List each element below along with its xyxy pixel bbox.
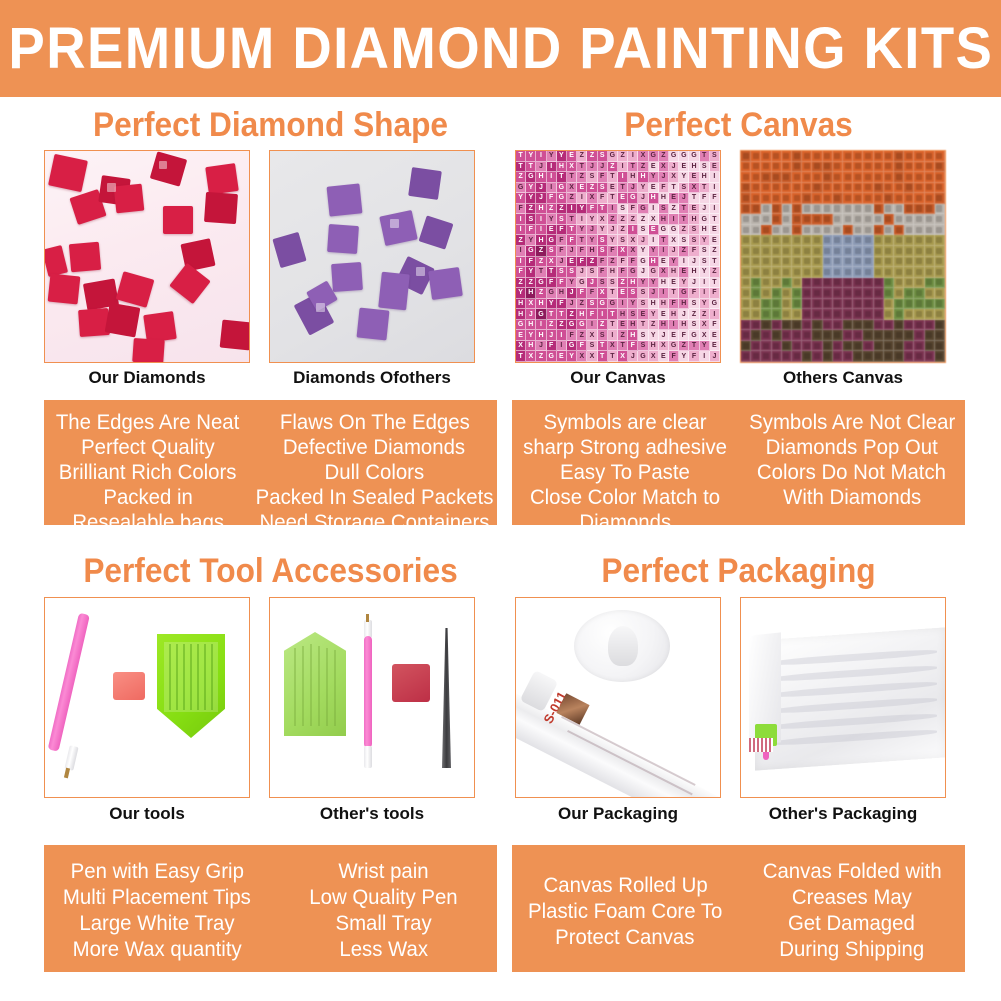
caption-other-canvas: Others Canvas <box>740 369 946 386</box>
info-line: Flaws On The Edges <box>279 410 469 435</box>
info-line: Plastic Foam Core To <box>528 899 722 925</box>
info-box-packaging: Canvas Rolled Up Plastic Foam Core To Pr… <box>512 845 965 972</box>
info-col-ours-packaging: Canvas Rolled Up Plastic Foam Core To Pr… <box>512 845 739 972</box>
info-line: Multi Placement Tips <box>63 885 251 911</box>
info-line: Diamonds Pop Out <box>766 435 938 460</box>
section-title-diamond-shape: Perfect Diamond Shape <box>60 108 481 142</box>
wax-square <box>113 672 145 700</box>
info-line: Large White Tray <box>80 911 235 937</box>
photo-other-diamonds <box>269 150 475 363</box>
info-line: Get Damaged <box>788 911 915 937</box>
caption-our-packaging: Our Packaging <box>515 805 721 822</box>
thin-pink-pen <box>364 636 372 748</box>
caption-our-canvas: Our Canvas <box>515 369 721 386</box>
info-line: Resealable bags <box>72 510 224 535</box>
red-wax-square <box>392 664 430 702</box>
info-line: Colors Do Not Match <box>757 460 946 485</box>
info-line: During Shipping <box>779 937 924 963</box>
caption-other-tools: Other's tools <box>269 805 475 822</box>
info-line: Symbols Are Not Clear <box>749 410 955 435</box>
info-line: Canvas Rolled Up <box>543 873 707 899</box>
tweezers <box>442 628 451 768</box>
info-line: Need Storage Containers <box>259 510 489 535</box>
info-line: Packed In Sealed Packets <box>256 485 494 510</box>
info-line: Defective Diamonds <box>283 435 465 460</box>
info-box-tool-accessories: Pen with Easy Grip Multi Placement Tips … <box>44 845 497 972</box>
info-line: Protect Canvas <box>556 925 695 951</box>
caption-other-packaging: Other's Packaging <box>740 805 946 822</box>
info-line: Pen with Easy Grip <box>71 859 244 885</box>
info-box-canvas: Symbols are clear sharp Strong adhesive … <box>512 400 965 525</box>
info-col-theirs-packaging: Canvas Folded with Creases May Get Damag… <box>739 845 966 972</box>
photo-other-packaging <box>740 597 946 798</box>
info-line: Dull Colors <box>325 460 425 485</box>
info-col-ours-canvas: Symbols are clear sharp Strong adhesive … <box>512 400 739 525</box>
photo-our-packaging: S-011 <box>515 597 721 798</box>
info-line: Canvas Folded with <box>762 859 941 885</box>
info-line: The Edges Are Neat <box>56 410 239 435</box>
info-line: Easy To Paste <box>560 460 690 485</box>
info-col-theirs-canvas: Symbols Are Not Clear Diamonds Pop Out C… <box>739 400 966 525</box>
info-line: Wrist pain <box>339 859 429 885</box>
pink-pen <box>48 613 90 752</box>
info-line: Small Tray <box>336 911 432 937</box>
info-col-theirs-diamond-shape: Flaws On The Edges Defective Diamonds Du… <box>252 400 497 525</box>
other-canvas-symbol-grid <box>741 151 945 362</box>
photo-our-tools <box>44 597 250 798</box>
comparison-infographic: PREMIUM DIAMOND PAINTING KITS Perfect Di… <box>0 0 1001 1001</box>
photo-other-canvas <box>740 150 946 363</box>
page-title: PREMIUM DIAMOND PAINTING KITS <box>8 20 993 78</box>
info-line: With Diamonds <box>783 485 921 510</box>
caption-our-tools: Our tools <box>44 805 250 822</box>
info-line: Less Wax <box>339 937 428 963</box>
section-title-tool-accessories: Perfect Tool Accessories <box>60 554 481 588</box>
info-line: Packed in <box>103 485 192 510</box>
info-line: Brilliant Rich Colors <box>59 460 237 485</box>
info-line: sharp Strong adhesive <box>523 435 727 460</box>
info-line: Perfect Quality <box>81 435 215 460</box>
info-line: Close Color Match to <box>530 485 720 510</box>
section-title-packaging: Perfect Packaging <box>528 554 949 588</box>
header-banner: PREMIUM DIAMOND PAINTING KITS <box>0 0 1001 97</box>
caption-our-diamonds: Our Diamonds <box>44 369 250 386</box>
info-col-ours-diamond-shape: The Edges Are Neat Perfect Quality Brill… <box>44 400 252 525</box>
info-col-theirs-tools: Wrist pain Low Quality Pen Small Tray Le… <box>271 845 498 972</box>
info-box-diamond-shape: The Edges Are Neat Perfect Quality Brill… <box>44 400 497 525</box>
info-line: Low Quality Pen <box>310 885 458 911</box>
photo-our-canvas: TYIYYEZZSGZIXGZGGGTSTTJIHXTJJZITZEXJEHSE… <box>515 150 721 363</box>
info-line: More Wax quantity <box>73 937 242 963</box>
photo-other-tools <box>269 597 475 798</box>
info-line: Creases May <box>792 885 912 911</box>
caption-other-diamonds: Diamonds Ofothers <box>269 369 475 386</box>
our-canvas-symbol-grid: TYIYYEZZSGZIXGZGGGTSTTJIHXTJJZITZEXJEHSE… <box>516 151 720 362</box>
section-title-canvas: Perfect Canvas <box>528 108 949 142</box>
info-line: Symbols are clear <box>544 410 707 435</box>
photo-our-diamonds <box>44 150 250 363</box>
info-col-ours-tools: Pen with Easy Grip Multi Placement Tips … <box>44 845 271 972</box>
info-line: Diamonds <box>579 510 671 535</box>
